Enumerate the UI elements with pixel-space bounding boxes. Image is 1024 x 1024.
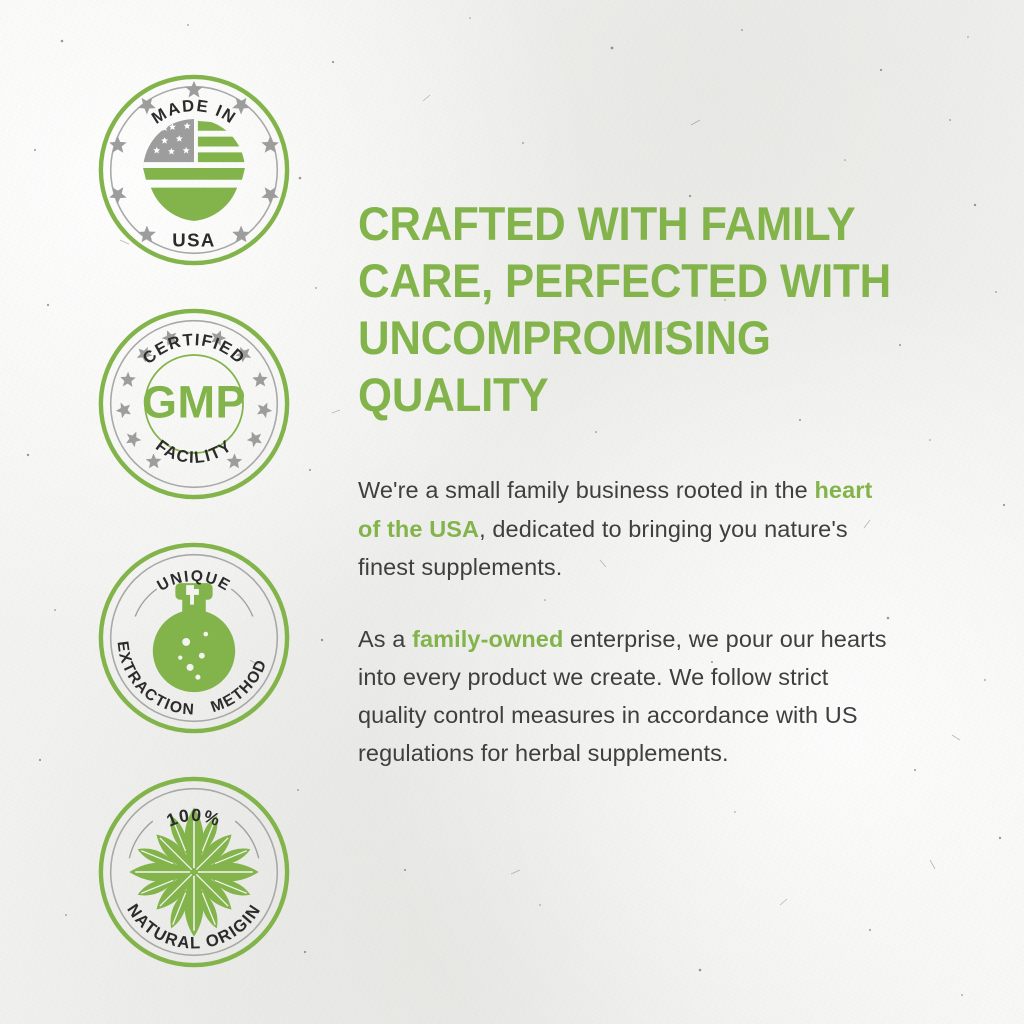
usa-flag-circle-icon	[143, 119, 245, 221]
badge-bottom-label: FACILITY	[152, 436, 236, 467]
paragraph-2-highlight: family-owned	[412, 626, 563, 652]
badge-top-label: MADE IN	[148, 96, 240, 128]
paragraph-2-text-before: As a	[358, 626, 412, 652]
headline-line-2: CARE, PERFECTED WITH	[358, 254, 891, 307]
badge-made-in-usa: MADE IN USA	[96, 72, 292, 268]
decor-arc-left	[135, 589, 157, 616]
badge-unique-extraction-method: UNIQUE EXTRACTION METHOD	[96, 540, 292, 736]
body-paragraph-2: As a family-owned enterprise, we pour ou…	[358, 620, 894, 772]
promo-poster: MADE IN USA	[0, 0, 1024, 1024]
decor-arc-right	[231, 589, 253, 616]
badge-gmp-certified-facility: CERTIFIED GMP FACILITY	[96, 306, 292, 502]
gmp-text-icon: GMP	[142, 377, 246, 428]
body-paragraph-1: We're a small family business rooted in …	[358, 471, 878, 585]
badge-bottom-label: USA	[172, 229, 215, 250]
badge-top-label: CERTIFIED	[139, 330, 249, 368]
text-content-column: CRAFTED WITH FAMILY CARE, PERFECTED WITH…	[358, 196, 918, 772]
headline-line-3: UNCOMPROMISING	[358, 311, 771, 364]
paragraph-1-text-before: We're a small family business rooted in …	[358, 477, 814, 503]
badge-natural-origin: 100% NATURAL ORIGIN	[96, 774, 292, 970]
certification-badges-column: MADE IN USA	[96, 72, 296, 1008]
page-title: CRAFTED WITH FAMILY CARE, PERFECTED WITH…	[358, 196, 916, 423]
headline-line-1: CRAFTED WITH FAMILY	[358, 197, 855, 250]
headline-line-4: QUALITY	[358, 368, 549, 421]
